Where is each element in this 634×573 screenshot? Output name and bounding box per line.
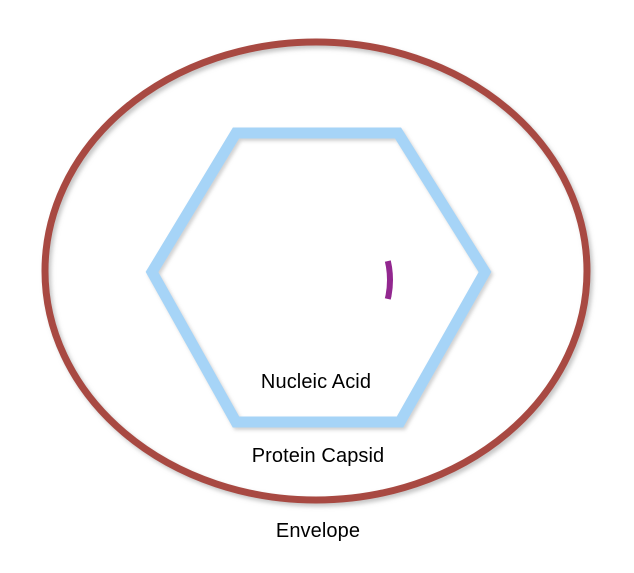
nucleic-acid-layer	[222, 196, 390, 364]
nucleic-acid-circle	[222, 196, 390, 364]
nucleic-acid-label: Nucleic Acid	[261, 371, 371, 393]
virus-structure-diagram: Nucleic Acid Protein Capsid Envelope	[0, 0, 634, 573]
envelope-layer	[45, 42, 587, 500]
envelope-ellipse	[45, 42, 587, 500]
virus-diagram-canvas: Nucleic Acid Protein Capsid Envelope	[0, 0, 634, 573]
envelope-label: Envelope	[276, 520, 360, 542]
protein-capsid-label: Protein Capsid	[252, 445, 385, 467]
